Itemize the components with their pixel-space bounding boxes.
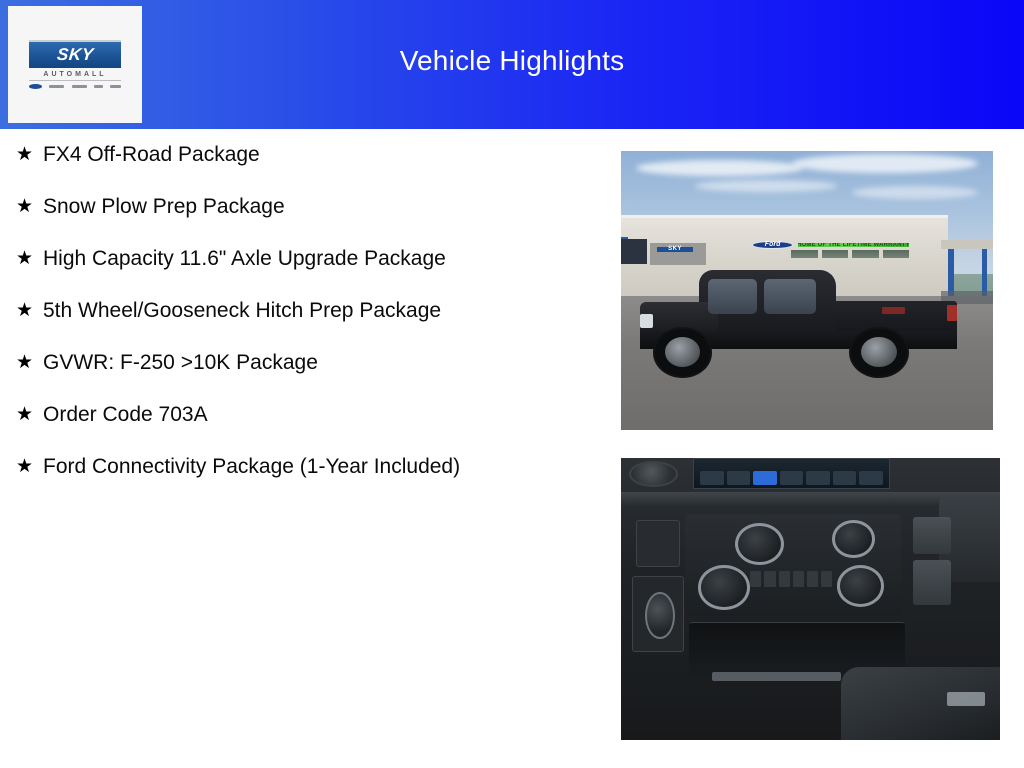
screen-button xyxy=(806,471,830,485)
pickup-truck xyxy=(640,263,967,380)
lincoln-logo-icon xyxy=(49,85,64,88)
highlight-text: 5th Wheel/Gooseneck Hitch Prep Package xyxy=(43,296,441,326)
drive-mode-dial xyxy=(632,576,683,651)
list-item: ★ GVWR: F-250 >10K Package xyxy=(0,348,600,378)
window-pane xyxy=(852,250,878,258)
window-pane xyxy=(822,250,848,258)
vehicle-highlights-list: ★ FX4 Off-Road Package ★ Snow Plow Prep … xyxy=(0,140,600,504)
star-bullet-icon: ★ xyxy=(16,244,43,274)
screen-button xyxy=(833,471,857,485)
star-bullet-icon: ★ xyxy=(16,296,43,326)
highlight-text: Snow Plow Prep Package xyxy=(43,192,285,222)
trailer-brake-button xyxy=(913,517,951,554)
page-header: Vehicle Highlights xyxy=(0,0,1024,129)
infotainment-screen xyxy=(693,458,890,489)
front-door-window xyxy=(708,279,757,314)
volume-knob xyxy=(698,565,749,610)
logo-brand-strip xyxy=(29,84,121,89)
temperature-knob-left xyxy=(735,523,784,566)
star-bullet-icon: ★ xyxy=(16,400,43,430)
screen-button-active xyxy=(753,471,777,485)
page-title: Vehicle Highlights xyxy=(0,44,1024,78)
warranty-banner-text: HOME OF THE LIFETIME WARRANTY xyxy=(798,243,909,248)
list-item: ★ 5th Wheel/Gooseneck Hitch Prep Package xyxy=(0,296,600,326)
climate-button xyxy=(750,571,761,587)
window-pane xyxy=(883,250,909,258)
four-wheel-drive-button xyxy=(913,560,951,605)
showroom-windows xyxy=(791,250,909,258)
dealer-sign: SKY xyxy=(657,247,693,252)
cloud-shape xyxy=(852,186,978,199)
lot-canopy xyxy=(941,240,993,248)
list-item: ★ Order Code 703A xyxy=(0,400,600,430)
list-item: ★ High Capacity 11.6" Axle Upgrade Packa… xyxy=(0,244,600,274)
star-bullet-icon: ★ xyxy=(16,348,43,378)
warranty-banner: HOME OF THE LIFETIME WARRANTY xyxy=(798,243,909,248)
window-pane xyxy=(791,250,817,258)
cloud-shape xyxy=(792,154,978,173)
climate-button-row xyxy=(750,571,832,587)
vehicle-interior-photo[interactable] xyxy=(621,458,1000,740)
highlight-text: Order Code 703A xyxy=(43,400,208,430)
climate-button xyxy=(821,571,832,587)
ford-oval-sign-icon: Ford xyxy=(752,241,793,249)
service-bay xyxy=(621,239,647,264)
headlight xyxy=(640,314,653,328)
vehicle-exterior-photo[interactable]: SKY Ford HOME OF THE LIFETIME WARRANTY xyxy=(621,151,993,430)
logo-tagline: AUTOMALL xyxy=(29,71,121,81)
auxiliary-switch-bank xyxy=(636,520,680,567)
bed-badge xyxy=(882,307,905,314)
rear-door-window xyxy=(764,279,816,314)
list-item: ★ Ford Connectivity Package (1-Year Incl… xyxy=(0,452,600,482)
screen-button xyxy=(859,471,883,485)
climate-button xyxy=(764,571,775,587)
star-bullet-icon: ★ xyxy=(16,140,43,170)
taillight xyxy=(947,305,957,321)
ford-oval-icon xyxy=(29,84,42,89)
rear-wheel xyxy=(849,327,909,378)
ram-logo-icon xyxy=(110,85,121,88)
screen-button xyxy=(727,471,751,485)
tray-divider xyxy=(712,672,841,680)
climate-control-panel xyxy=(685,514,901,616)
dealer-logo-card[interactable]: SKY AUTOMALL xyxy=(8,6,142,123)
list-item: ★ FX4 Off-Road Package xyxy=(0,140,600,170)
star-bullet-icon: ★ xyxy=(16,192,43,222)
chevrolet-logo-icon xyxy=(72,85,87,88)
screen-button xyxy=(780,471,804,485)
front-wheel xyxy=(653,327,713,378)
cloud-shape xyxy=(636,160,803,176)
climate-button xyxy=(779,571,790,587)
dealer-logo: SKY AUTOMALL xyxy=(29,40,121,89)
cloud-shape xyxy=(695,180,836,192)
climate-button xyxy=(807,571,818,587)
seat-control-buttons xyxy=(947,692,985,706)
list-item: ★ Snow Plow Prep Package xyxy=(0,192,600,222)
highlight-text: Ford Connectivity Package (1-Year Includ… xyxy=(43,452,460,482)
tune-knob xyxy=(837,565,884,607)
highlight-text: FX4 Off-Road Package xyxy=(43,140,260,170)
jeep-logo-icon xyxy=(94,85,103,88)
screen-button xyxy=(700,471,724,485)
climate-button xyxy=(793,571,804,587)
highlight-text: GVWR: F-250 >10K Package xyxy=(43,348,318,378)
logo-wordmark: SKY xyxy=(56,45,95,65)
highlight-text: High Capacity 11.6" Axle Upgrade Package xyxy=(43,244,446,274)
logo-banner: SKY xyxy=(29,40,121,68)
temperature-knob-right xyxy=(832,520,875,557)
star-bullet-icon: ★ xyxy=(16,452,43,482)
